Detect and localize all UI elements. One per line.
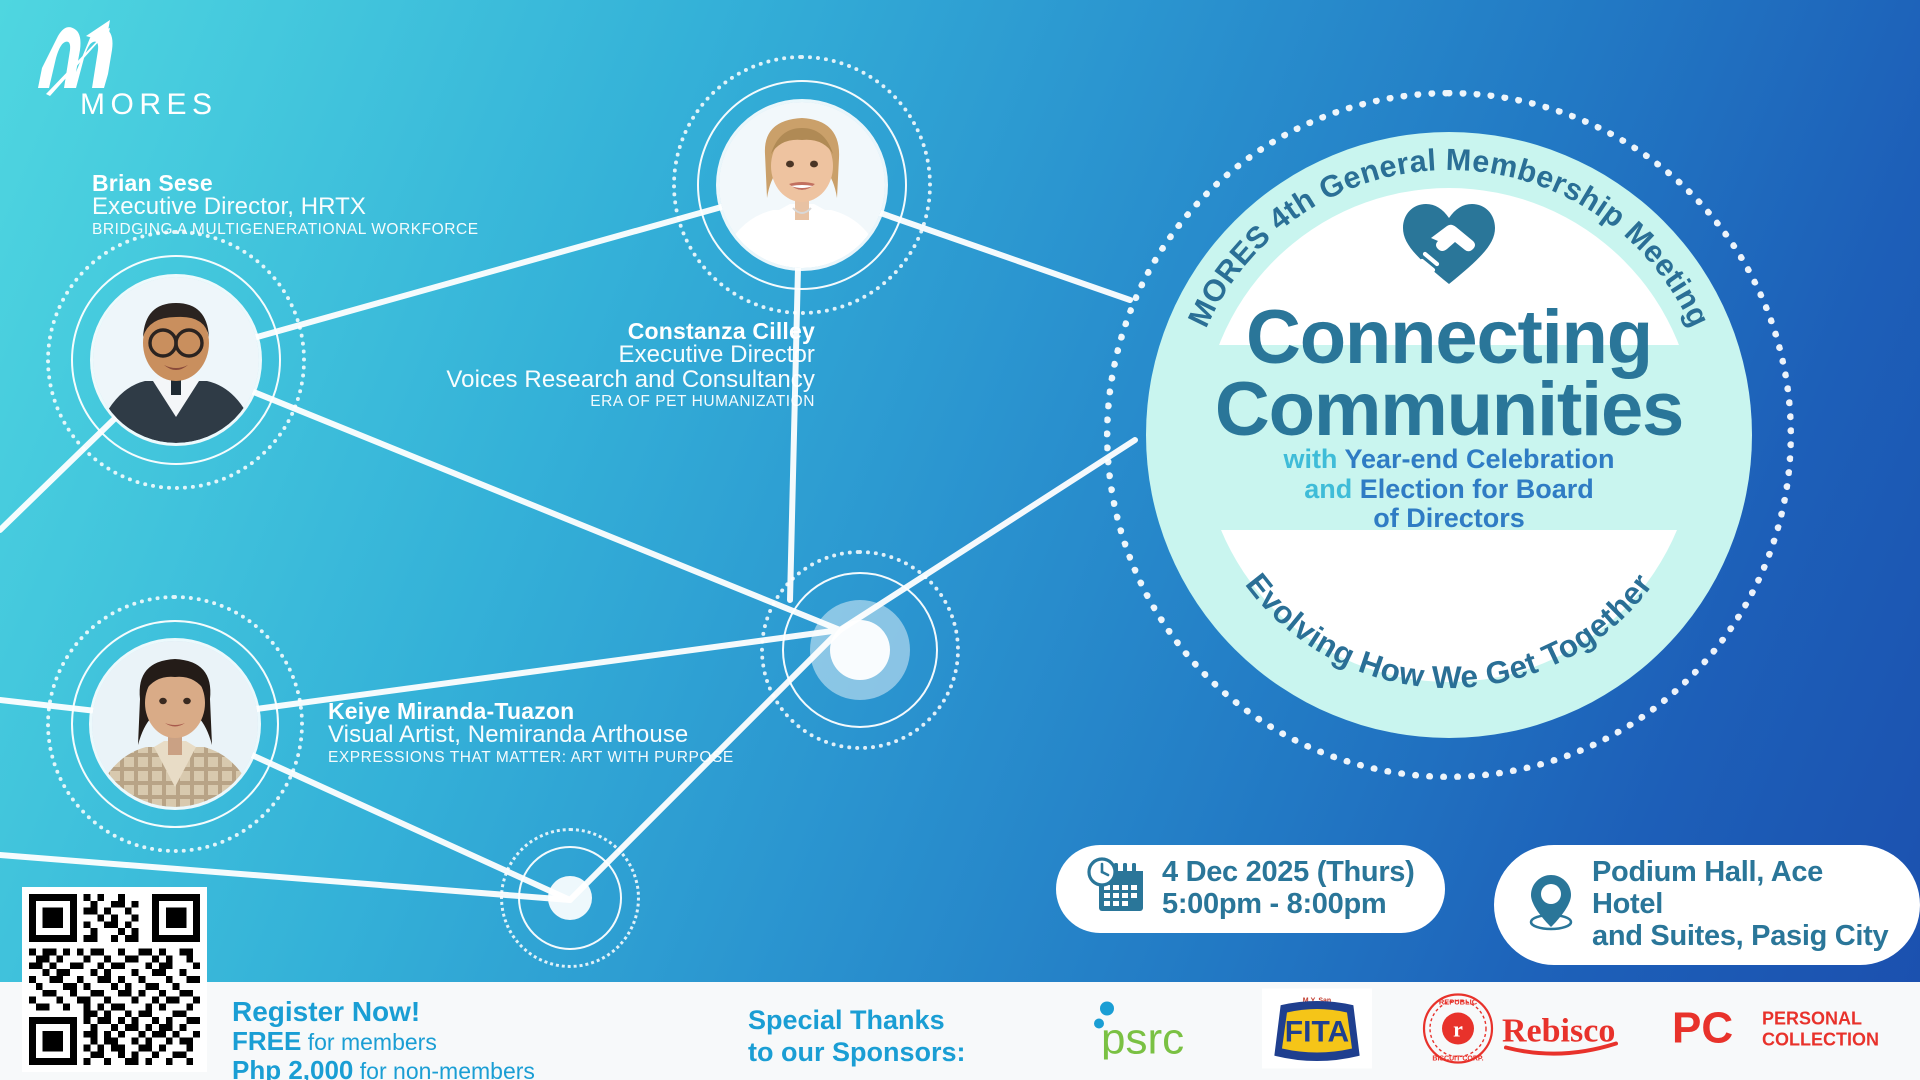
speaker-caption-constanza-cilley: Constanza Cilley Executive Director Voic…	[260, 320, 815, 410]
svg-text:COLLECTION: COLLECTION	[1762, 1030, 1879, 1050]
avatar-keiye-miranda-tuazon	[92, 641, 258, 807]
event-date-text: 4 Dec 2025 (Thurs) 5:00pm - 8:00pm	[1162, 857, 1415, 921]
speaker-name: Constanza Cilley	[260, 320, 815, 343]
network-node-small	[500, 828, 640, 968]
speaker-topic: ERA OF PET HUMANIZATION	[260, 394, 815, 410]
svg-text:psrc: psrc	[1101, 1015, 1184, 1060]
speaker-node-constanza-cilley	[672, 55, 932, 315]
register-heading: Register Now!	[232, 996, 535, 1027]
speaker-role: Executive Director	[260, 343, 815, 367]
speaker-topic: BRIDGING A MULTIGENERATIONAL WORKFORCE	[92, 222, 512, 238]
event-location-line1: Podium Hall, Ace Hotel	[1592, 857, 1890, 921]
badge-title-line1: Connecting	[1104, 302, 1794, 374]
badge-subtitle-line2: and Election for Board	[1104, 475, 1794, 505]
svg-text:FITA: FITA	[1285, 1016, 1349, 1049]
speaker-node-keiye-miranda-tuazon	[46, 595, 304, 853]
logo-wordmark: MORES	[80, 88, 218, 122]
mores-arrow-logo-icon	[32, 16, 232, 96]
nonmember-price-line: Php 2,000 for non-members	[232, 1056, 535, 1080]
mores-logo: MORES	[32, 16, 262, 126]
free-price-line: FREE for members	[232, 1027, 535, 1056]
node-core	[548, 876, 592, 920]
registration-info: Register Now! FREE for members Php 2,000…	[232, 996, 535, 1080]
sponsors-heading-line1: Special Thanks	[748, 1004, 966, 1036]
svg-text:REPUBLIC: REPUBLIC	[1439, 998, 1478, 1007]
event-location-pill[interactable]: Podium Hall, Ace Hotel and Suites, Pasig…	[1494, 845, 1920, 965]
sponsor-logo-psrc: psrc	[1085, 998, 1245, 1065]
svg-text:PC: PC	[1672, 1004, 1733, 1053]
registration-qr-code[interactable]	[22, 887, 207, 1072]
sponsors-heading-line2: to our Sponsors:	[748, 1036, 966, 1068]
badge-title-line2: Communities	[1104, 374, 1794, 446]
qr-code-icon	[29, 894, 200, 1065]
svg-text:Rebisco: Rebisco	[1502, 1013, 1615, 1050]
svg-text:Evolving How We Get Together: Evolving How We Get Together	[1239, 566, 1659, 695]
sponsor-logo-personal-collection: PC PERSONAL COLLECTION	[1670, 1001, 1900, 1062]
footer-bar: Register Now! FREE for members Php 2,000…	[0, 982, 1920, 1080]
avatar-constanza-cilley	[719, 102, 885, 268]
event-location-line2: and Suites, Pasig City	[1592, 921, 1890, 953]
map-pin-icon	[1524, 872, 1578, 937]
event-date-line1: 4 Dec 2025 (Thurs)	[1162, 857, 1415, 889]
avatar-brian-sese	[93, 277, 259, 443]
handshake-heart-icon	[1401, 202, 1497, 291]
event-date-pill[interactable]: 4 Dec 2025 (Thurs) 5:00pm - 8:00pm	[1056, 845, 1445, 933]
sponsor-logo-fita: M.Y. San FITA	[1262, 989, 1372, 1074]
svg-text:BISCUIT CORP.: BISCUIT CORP.	[1432, 1056, 1483, 1063]
speaker-caption-brian-sese: Brian Sese Executive Director, HRTX BRID…	[92, 172, 512, 238]
badge-subtitle: with Year-end Celebration and Election f…	[1104, 445, 1794, 534]
node-core	[830, 620, 890, 680]
svg-text:r: r	[1453, 1017, 1463, 1042]
network-node-large	[760, 550, 960, 750]
badge-subtitle-line3: of Directors	[1104, 504, 1794, 534]
sponsors-heading: Special Thanks to our Sponsors:	[748, 1004, 966, 1069]
speaker-name: Brian Sese	[92, 172, 512, 195]
event-location-text: Podium Hall, Ace Hotel and Suites, Pasig…	[1592, 857, 1890, 953]
speaker-topic: EXPRESSIONS THAT MATTER: ART WITH PURPOS…	[328, 750, 848, 766]
badge-subtitle-line1: with Year-end Celebration	[1104, 445, 1794, 475]
event-time-line: 5:00pm - 8:00pm	[1162, 889, 1415, 921]
calendar-clock-icon	[1086, 857, 1148, 920]
event-poster: MORES	[0, 0, 1920, 1080]
svg-text:PERSONAL: PERSONAL	[1762, 1009, 1862, 1029]
speaker-org: Voices Research and Consultancy	[260, 368, 815, 392]
speaker-role: Executive Director, HRTX	[92, 195, 512, 219]
badge-title: Connecting Communities	[1104, 302, 1794, 446]
event-badge: MORES 4th General Membership Meeting Evo…	[1104, 90, 1794, 780]
sponsor-logo-rebisco: r REPUBLIC BISCUIT CORP. Rebisco	[1420, 992, 1660, 1071]
